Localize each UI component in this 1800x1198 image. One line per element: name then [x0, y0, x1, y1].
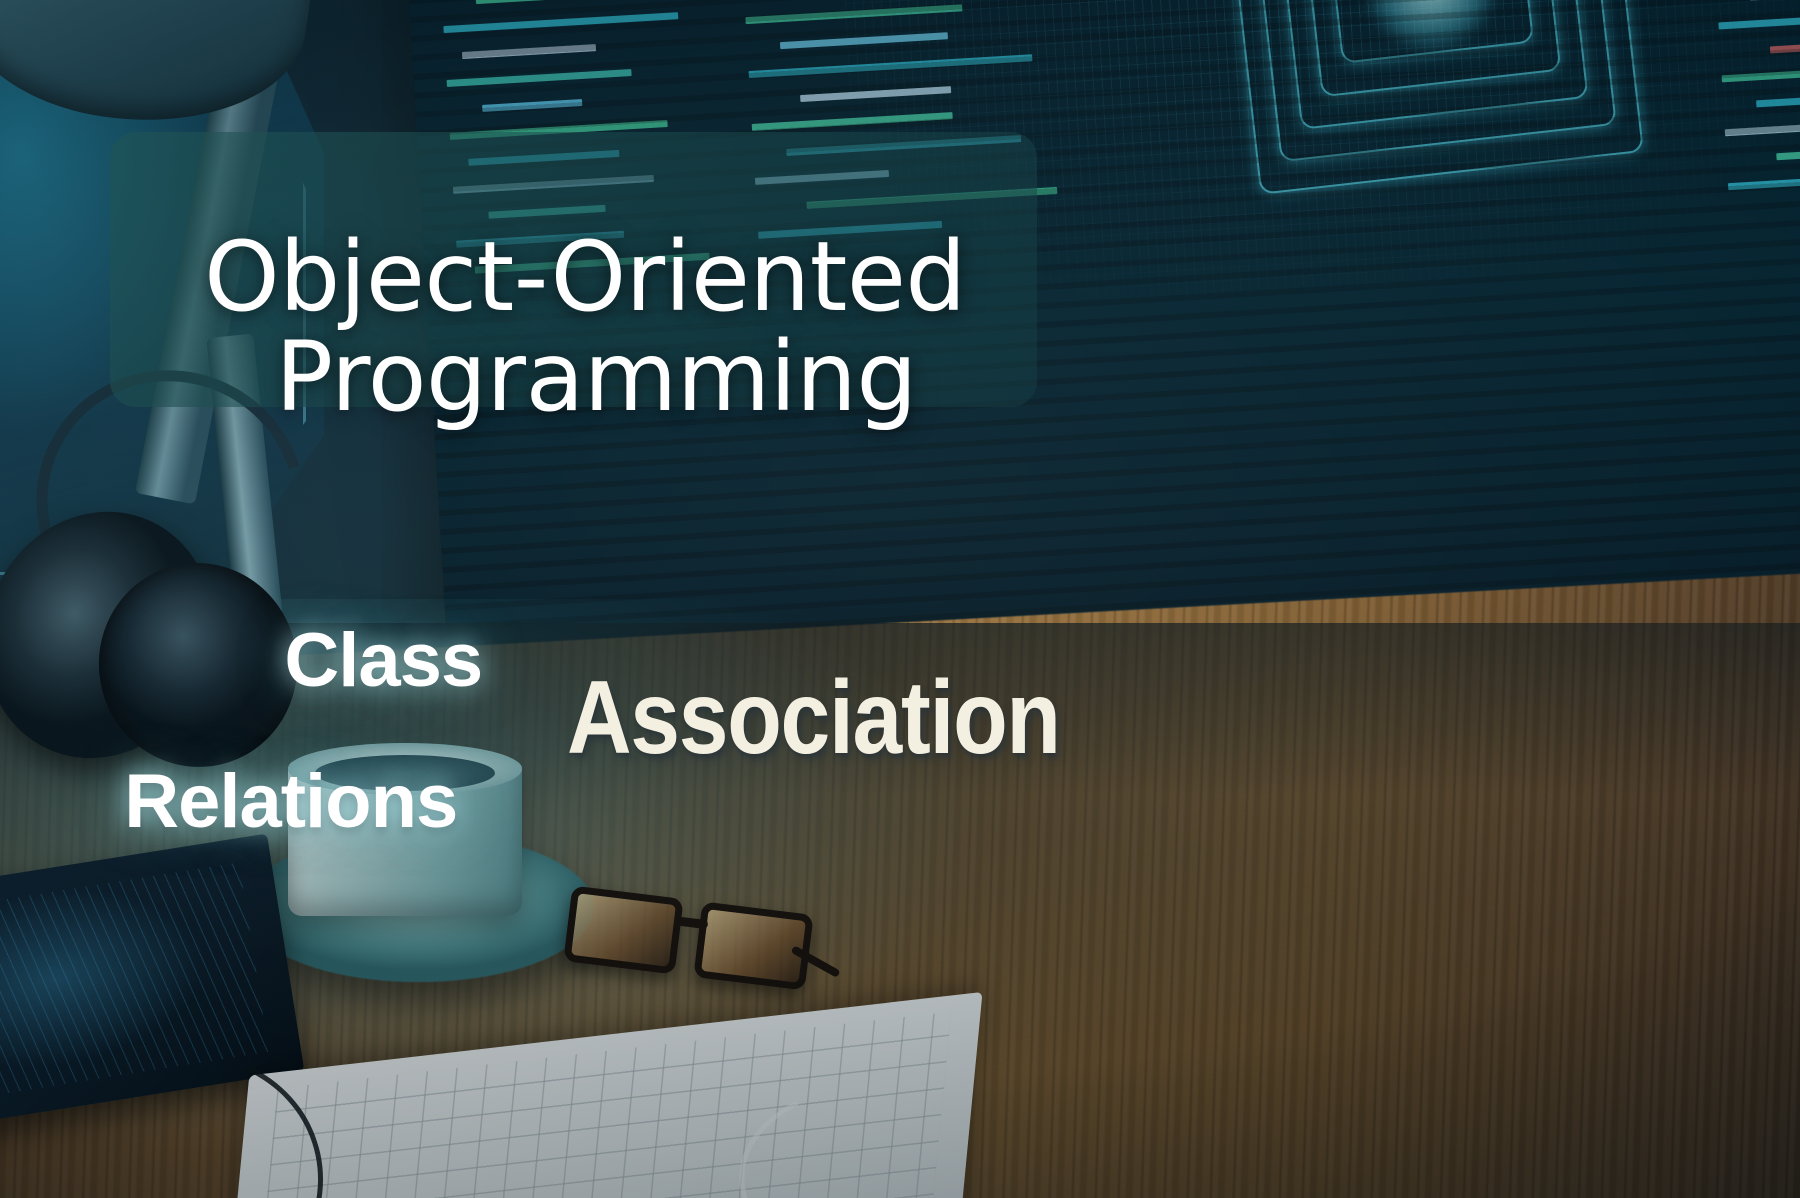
poster-canvas: Object-Oriented Programming Class Relati…	[0, 0, 1800, 1198]
title-line-1: Object-Oriented	[204, 221, 966, 333]
eyeglass-lens-left	[563, 885, 683, 974]
title-line-2: Programming	[139, 327, 1053, 428]
keyword-class: Class	[284, 617, 482, 704]
keyword-association: Association	[567, 659, 1060, 778]
keyword-relations: Relations	[124, 758, 457, 845]
page-title: Object-Oriented Programming	[117, 126, 1053, 529]
